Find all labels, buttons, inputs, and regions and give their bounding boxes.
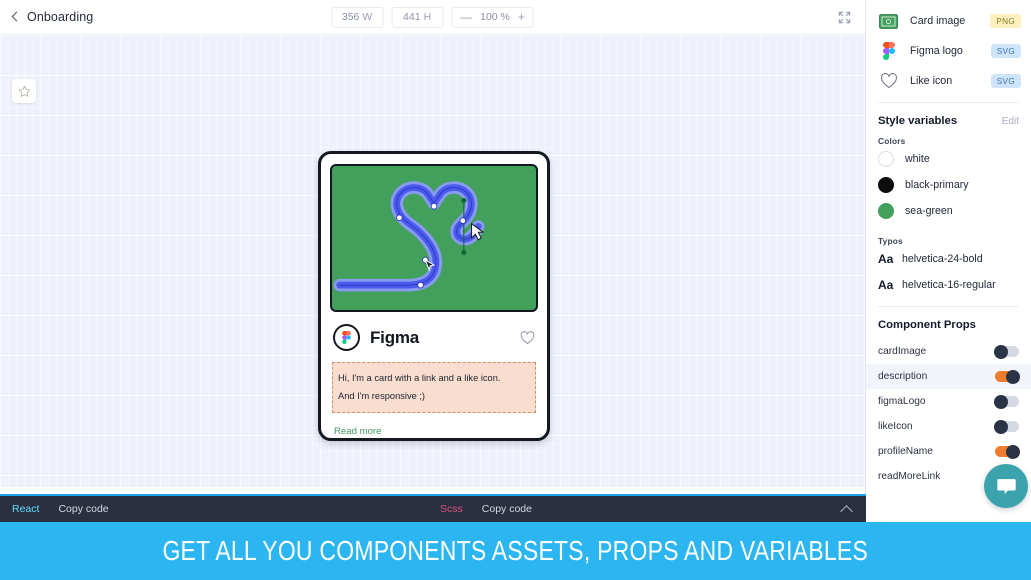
asset-row-card-image[interactable]: Card image PNG [866, 6, 1031, 36]
page-title: Onboarding [27, 10, 93, 24]
height-value: 441 [403, 11, 421, 23]
card-profile-name: Figma [370, 328, 419, 348]
color-swatch [878, 151, 894, 167]
star-icon [18, 85, 31, 98]
back-button[interactable]: Onboarding [0, 10, 93, 24]
component-props-header: Component Props [866, 307, 1031, 331]
fullscreen-button[interactable] [833, 6, 855, 28]
chat-bubble-icon [996, 477, 1017, 496]
image-thumbnail-icon [878, 11, 899, 32]
chevron-left-icon [10, 12, 20, 22]
scss-group: Scss Copy code [440, 503, 532, 515]
asset-label: Card image [910, 15, 965, 27]
card-description-line-1: Hi, I'm a card with a link and a like ic… [338, 369, 530, 387]
color-swatch [878, 177, 894, 193]
assets-list: Card image PNG Figma logo SVG [866, 0, 1031, 96]
prop-name: likeIcon [878, 421, 913, 432]
react-copy-code-button[interactable]: Copy code [58, 503, 108, 515]
prop-row-description[interactable]: description [866, 364, 1031, 389]
react-tab[interactable]: React [12, 503, 39, 515]
prop-row-cardImage[interactable]: cardImage [866, 339, 1031, 364]
card-header-row: Figma [330, 324, 538, 351]
prop-toggle[interactable] [995, 446, 1019, 457]
card-image[interactable] [330, 164, 538, 312]
figma-logo-icon [340, 331, 353, 344]
heart-outline-icon [878, 71, 899, 92]
asset-badge: PNG [990, 14, 1021, 28]
asset-label: Like icon [910, 75, 952, 87]
colors-heading: Colors [866, 127, 1031, 146]
figma-logo-icon [878, 41, 899, 62]
prop-toggle[interactable] [995, 396, 1019, 407]
toggle-knob [1006, 445, 1020, 459]
top-toolbar: Onboarding 356 W 441 H — 100 % + [0, 0, 865, 35]
prop-name: profileName [878, 446, 933, 457]
card-preview-frame[interactable]: Figma Hi, I'm a card with a link and a l… [318, 151, 550, 441]
typo-sample: Aa [878, 252, 898, 266]
colors-list: white black-primary sea-green [866, 146, 1031, 224]
codebar-right-group [822, 502, 854, 516]
typo-row-helvetica-16-regular[interactable]: Aa helvetica-16-regular [866, 272, 1031, 298]
heart-outline-icon [520, 331, 535, 345]
fullscreen-icon [838, 11, 851, 24]
style-variables-edit-button[interactable]: Edit [1002, 116, 1019, 127]
width-value: 356 [342, 11, 360, 23]
typo-name: helvetica-24-bold [902, 253, 983, 265]
color-name: sea-green [905, 205, 953, 217]
zoom-out-button[interactable]: — [460, 11, 472, 23]
toggle-knob [994, 345, 1008, 359]
chevron-up-icon[interactable] [840, 502, 854, 516]
toggle-knob [994, 420, 1008, 434]
app-root: Onboarding 356 W 441 H — 100 % + [0, 0, 1031, 580]
chat-widget-button[interactable] [984, 464, 1028, 508]
style-variables-header: Style variables Edit [866, 103, 1031, 127]
asset-label: Figma logo [910, 45, 963, 57]
typo-name: helvetica-16-regular [902, 279, 996, 291]
prop-name: readMoreLink [878, 471, 940, 482]
promo-banner-text: GET ALL YOU COMPONENTS ASSETS, PROPS AND… [163, 535, 869, 567]
typos-list: Aa helvetica-24-bold Aa helvetica-16-reg… [866, 246, 1031, 298]
toggle-knob [994, 395, 1008, 409]
width-field[interactable]: 356 W [331, 7, 383, 28]
zoom-level: 100 % [480, 11, 510, 23]
scss-tab[interactable]: Scss [440, 503, 463, 515]
prop-name: figmaLogo [878, 396, 926, 407]
read-more-link[interactable]: Read more [334, 426, 538, 437]
typos-heading: Typos [866, 224, 1031, 246]
card-description-line-2: And I'm responsive ;) [338, 387, 530, 405]
height-unit: H [424, 11, 432, 23]
prop-name: description [878, 371, 927, 382]
avatar [333, 324, 360, 351]
favorite-button[interactable] [12, 79, 36, 103]
code-export-bar: React Copy code Scss Copy code [0, 494, 866, 522]
color-name: white [905, 153, 930, 165]
asset-badge: SVG [991, 44, 1021, 58]
prop-toggle[interactable] [995, 346, 1019, 357]
prop-row-likeIcon[interactable]: likeIcon [866, 414, 1031, 439]
prop-name: cardImage [878, 346, 926, 357]
width-unit: W [362, 11, 372, 23]
zoom-control: — 100 % + [451, 7, 534, 28]
zoom-in-button[interactable]: + [518, 11, 525, 23]
design-canvas[interactable]: Figma Hi, I'm a card with a link and a l… [0, 35, 865, 487]
prop-toggle[interactable] [995, 421, 1019, 432]
card-description[interactable]: Hi, I'm a card with a link and a like ic… [332, 362, 536, 413]
size-zoom-controls: 356 W 441 H — 100 % + [331, 7, 534, 28]
color-name: black-primary [905, 179, 969, 191]
like-button[interactable] [520, 331, 535, 345]
style-variables-title: Style variables [878, 115, 957, 127]
promo-banner: GET ALL YOU COMPONENTS ASSETS, PROPS AND… [0, 522, 1031, 580]
color-row-sea-green[interactable]: sea-green [866, 198, 1031, 224]
prop-row-figmaLogo[interactable]: figmaLogo [866, 389, 1031, 414]
heart-vector-path [332, 166, 536, 310]
right-sidebar: Card image PNG Figma logo SVG [866, 0, 1031, 522]
color-row-white[interactable]: white [866, 146, 1031, 172]
height-field[interactable]: 441 H [391, 7, 443, 28]
color-row-black-primary[interactable]: black-primary [866, 172, 1031, 198]
color-swatch [878, 203, 894, 219]
toggle-knob [1006, 370, 1020, 384]
scss-copy-code-button[interactable]: Copy code [482, 503, 532, 515]
typo-row-helvetica-24-bold[interactable]: Aa helvetica-24-bold [866, 246, 1031, 272]
typo-sample: Aa [878, 278, 898, 292]
asset-badge: SVG [991, 74, 1021, 88]
asset-row-figma-logo[interactable]: Figma logo SVG [866, 36, 1031, 66]
component-props-title: Component Props [878, 319, 976, 331]
main-panel: Onboarding 356 W 441 H — 100 % + [0, 0, 866, 522]
prop-row-profileName[interactable]: profileName [866, 439, 1031, 464]
asset-row-like-icon[interactable]: Like icon SVG [866, 66, 1031, 96]
prop-toggle[interactable] [995, 371, 1019, 382]
